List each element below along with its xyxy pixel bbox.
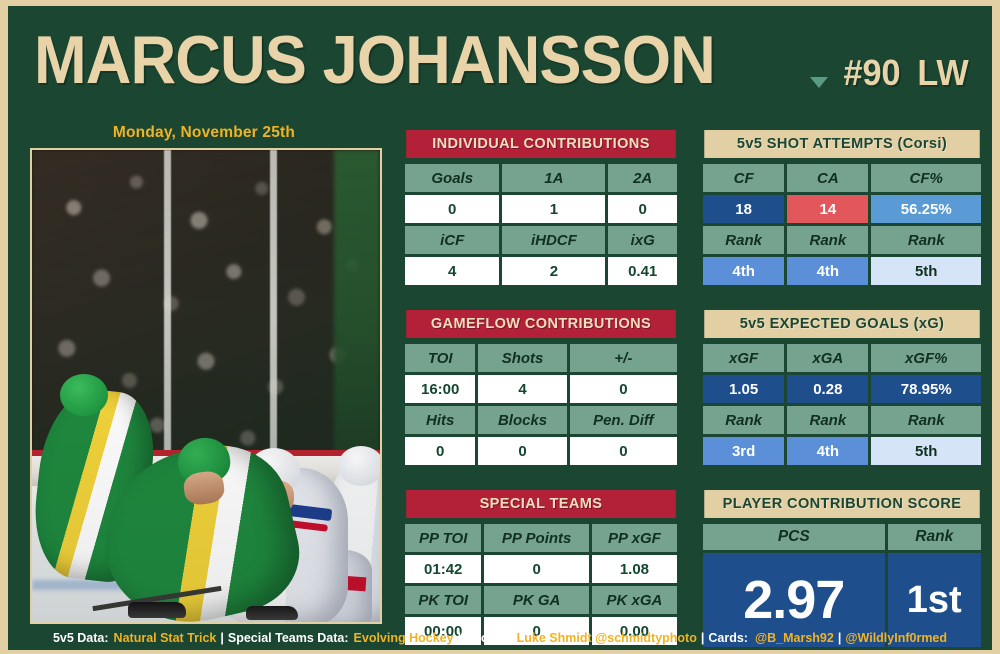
footer-separator: |	[834, 631, 846, 645]
game-photo	[30, 148, 382, 624]
column-header: Rank	[871, 406, 981, 434]
table-row: PP TOI PP Points PP xGF	[405, 524, 677, 552]
column-header: PCS	[703, 524, 885, 550]
rank-value: 4th	[703, 257, 784, 285]
table-row: 18 14 56.25%	[703, 195, 981, 223]
chevron-down-icon	[810, 77, 828, 88]
column-header: Shots	[478, 344, 566, 372]
panel-gameflow-contributions: GAMEFLOW CONTRIBUTIONS TOI Shots +/- 16:…	[402, 310, 680, 468]
column-header: Rank	[787, 226, 868, 254]
column-header: PK TOI	[405, 586, 481, 614]
stat-value: 0	[405, 437, 475, 465]
stat-value: 0	[570, 375, 677, 403]
player-stat-card: MARCUS JOHANSSON #90 LW Monday, November…	[0, 0, 1000, 654]
column-header: PK GA	[484, 586, 588, 614]
panel-title: 5v5 SHOT ATTEMPTS (Corsi)	[704, 130, 979, 158]
table-row: 16:00 4 0	[405, 375, 677, 403]
stat-value: 16:00	[405, 375, 475, 403]
column-header: Rank	[871, 226, 981, 254]
panel-5v5-shot-attempts: 5v5 SHOT ATTEMPTS (Corsi) CF CA CF% 18 1…	[700, 130, 984, 288]
stat-value-cf: 18	[703, 195, 784, 223]
table-row: 4 2 0.41	[405, 257, 677, 285]
rank-value: 5th	[871, 257, 981, 285]
column-header: CF%	[871, 164, 981, 192]
stat-value: 01:42	[405, 555, 481, 583]
table-row: Rank Rank Rank	[703, 226, 981, 254]
column-header: xGF	[703, 344, 784, 372]
stat-value-xgf-pct: 78.95%	[871, 375, 981, 403]
stat-value: 0.41	[608, 257, 677, 285]
footer-source-special-teams: Evolving Hockey	[349, 631, 454, 645]
column-header: Rank	[787, 406, 868, 434]
column-header: CA	[787, 164, 868, 192]
footer-separator: |	[454, 631, 466, 645]
stat-value: 4	[478, 375, 566, 403]
player-position: LW	[917, 52, 968, 94]
stat-value: 0	[484, 555, 588, 583]
panel-title: SPECIAL TEAMS	[406, 490, 676, 518]
table-row: 0 1 0	[405, 195, 677, 223]
panel-title: GAMEFLOW CONTRIBUTIONS	[406, 310, 676, 338]
stat-value-xga: 0.28	[787, 375, 868, 403]
column-header: PK xGA	[592, 586, 677, 614]
column-header: CF	[703, 164, 784, 192]
table-row: TOI Shots +/-	[405, 344, 677, 372]
footer-label-5v5: 5v5 Data:	[53, 631, 109, 645]
panel-title: 5v5 EXPECTED GOALS (xG)	[704, 310, 979, 338]
table-row: 4th 4th 5th	[703, 257, 981, 285]
individual-contributions-table: Goals 1A 2A 0 1 0 iCF iHDCF ixG	[402, 161, 680, 288]
footer-separator: |	[216, 631, 228, 645]
table-row: Rank Rank Rank	[703, 406, 981, 434]
glass-post	[270, 150, 277, 470]
footer-source-cards-2: @WildlyInf0rmed	[845, 631, 947, 645]
player-meta: #90 LW	[810, 52, 970, 94]
corsi-table: CF CA CF% 18 14 56.25% Rank Rank Rank	[700, 161, 984, 288]
ice-skate	[128, 602, 186, 618]
expected-goals-table: xGF xGA xGF% 1.05 0.28 78.95% Rank Rank …	[700, 341, 984, 468]
stat-value: 0	[570, 437, 677, 465]
stat-value: 4	[405, 257, 499, 285]
wild-helmet	[60, 374, 108, 416]
table-row: PK TOI PK GA PK xGA	[405, 586, 677, 614]
right-column: 5v5 SHOT ATTEMPTS (Corsi) CF CA CF% 18 1…	[700, 130, 984, 650]
panel-special-teams: SPECIAL TEAMS PP TOI PP Points PP xGF 01…	[402, 490, 680, 648]
column-header: 2A	[608, 164, 677, 192]
middle-column: INDIVIDUAL CONTRIBUTIONS Goals 1A 2A 0 1…	[402, 130, 680, 648]
footer-label-special-teams: Special Teams Data:	[228, 631, 349, 645]
table-row: CF CA CF%	[703, 164, 981, 192]
table-row: 01:42 0 1.08	[405, 555, 677, 583]
column-header: iHDCF	[502, 226, 605, 254]
column-header: Rank	[888, 524, 982, 550]
panel-title: PLAYER CONTRIBUTION SCORE	[704, 490, 979, 518]
column-header: Goals	[405, 164, 499, 192]
column-header: +/-	[570, 344, 677, 372]
table-row: iCF iHDCF ixG	[405, 226, 677, 254]
column-header: xGF%	[871, 344, 981, 372]
stat-value-xgf: 1.05	[703, 375, 784, 403]
rank-value: 5th	[871, 437, 981, 465]
column-header: PP TOI	[405, 524, 481, 552]
crowd-green-section	[334, 150, 380, 470]
footer-separator: |	[697, 631, 709, 645]
column-header: Hits	[405, 406, 475, 434]
table-row: PCS Rank	[703, 524, 981, 550]
table-row: 0 0 0	[405, 437, 677, 465]
glass-post	[164, 150, 171, 470]
table-row: Hits Blocks Pen. Diff	[405, 406, 677, 434]
column-header: Rank	[703, 226, 784, 254]
jersey-number: #90	[843, 52, 900, 94]
stat-value: 0	[608, 195, 677, 223]
panel-5v5-expected-goals: 5v5 EXPECTED GOALS (xG) xGF xGA xGF% 1.0…	[700, 310, 984, 468]
footer-credits: 5v5 Data: Natural Stat Trick | Special T…	[8, 626, 992, 650]
rank-value: 4th	[787, 437, 868, 465]
footer-label-photos: Photos:	[465, 631, 512, 645]
stat-value: 1	[502, 195, 605, 223]
pcs-rank: 1st	[889, 581, 981, 619]
pcs-value: 2.97	[704, 573, 884, 627]
column-header: PP xGF	[592, 524, 677, 552]
column-header: xGA	[787, 344, 868, 372]
stat-value-cf-pct: 56.25%	[871, 195, 981, 223]
rank-value: 3rd	[703, 437, 784, 465]
column-header: ixG	[608, 226, 677, 254]
stat-value: 1.08	[592, 555, 677, 583]
column-header: iCF	[405, 226, 499, 254]
stat-value-ca: 14	[787, 195, 868, 223]
card-inner: MARCUS JOHANSSON #90 LW Monday, November…	[8, 6, 992, 650]
left-column: Monday, November 25th	[30, 124, 378, 624]
ice-skate	[246, 606, 298, 620]
stat-value: 2	[502, 257, 605, 285]
column-header: PP Points	[484, 524, 588, 552]
stat-value: 0	[478, 437, 566, 465]
card-header: MARCUS JOHANSSON #90 LW	[8, 6, 992, 118]
panel-individual-contributions: INDIVIDUAL CONTRIBUTIONS Goals 1A 2A 0 1…	[402, 130, 680, 288]
stat-value: 0	[405, 195, 499, 223]
footer-source-cards-1: @B_Marsh92	[748, 631, 834, 645]
rank-value: 4th	[787, 257, 868, 285]
column-header: Pen. Diff	[570, 406, 677, 434]
footer-label-cards: Cards:	[708, 631, 748, 645]
footer-source-5v5: Natural Stat Trick	[109, 631, 217, 645]
table-row: Goals 1A 2A	[405, 164, 677, 192]
column-header: Rank	[703, 406, 784, 434]
table-row: 1.05 0.28 78.95%	[703, 375, 981, 403]
column-header: TOI	[405, 344, 475, 372]
panel-title: INDIVIDUAL CONTRIBUTIONS	[406, 130, 676, 158]
column-header: Blocks	[478, 406, 566, 434]
page-title: MARCUS JOHANSSON	[34, 26, 715, 94]
table-row: xGF xGA xGF%	[703, 344, 981, 372]
table-row: 3rd 4th 5th	[703, 437, 981, 465]
game-date: Monday, November 25th	[30, 124, 378, 142]
footer-source-photos: Luke Shmidt @schmidtyphoto	[512, 631, 697, 645]
rangers-helmet	[338, 446, 382, 486]
column-header: 1A	[502, 164, 605, 192]
gameflow-contributions-table: TOI Shots +/- 16:00 4 0 Hits Blocks Pen.…	[402, 341, 680, 468]
